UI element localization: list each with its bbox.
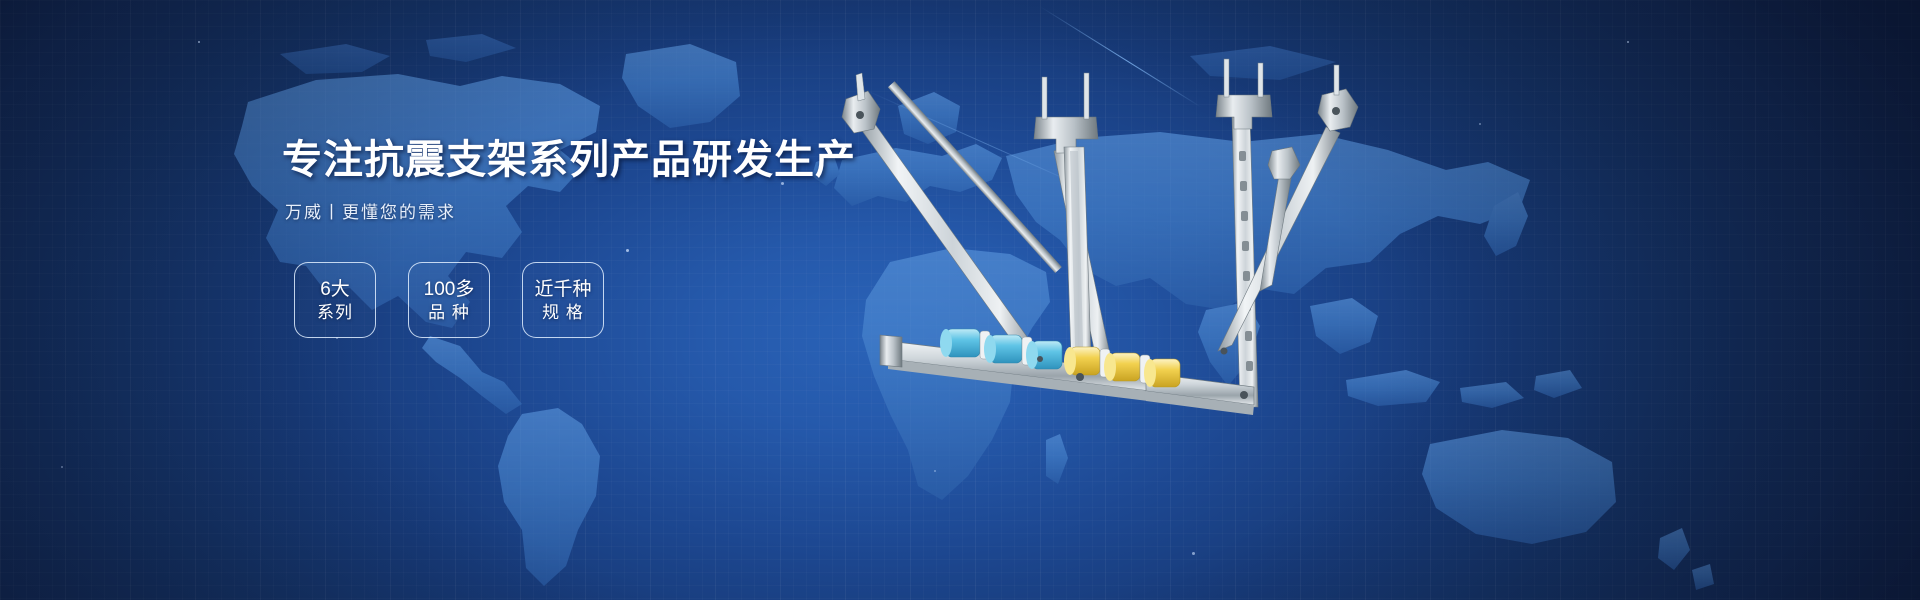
badge-varieties[interactable]: 100多 品 种: [408, 262, 490, 338]
badge-series[interactable]: 6大 系列: [294, 262, 376, 338]
badge-list: 6大 系列 100多 品 种 近千种 规 格: [294, 262, 604, 338]
page-title: 专注抗震支架系列产品研发生产: [282, 140, 842, 180]
copy-block: 专注抗震支架系列产品研发生产 万威丨更懂您的需求: [282, 140, 842, 221]
badge-specs-line1: 近千种: [534, 280, 591, 299]
product-image: [840, 55, 1360, 435]
badge-varieties-line1: 100多: [424, 280, 475, 299]
badge-specs-line2: 规 格: [542, 304, 584, 321]
page-subtitle: 万威丨更懂您的需求: [285, 204, 842, 221]
star-3: [626, 249, 629, 252]
hero-banner: 专注抗震支架系列产品研发生产 万威丨更懂您的需求 6大 系列 100多 品 种 …: [0, 0, 1920, 600]
star-9: [934, 470, 936, 472]
star-8: [1192, 552, 1195, 555]
badge-varieties-line2: 品 种: [428, 304, 470, 321]
badge-series-line2: 系列: [317, 304, 353, 321]
badge-series-line1: 6大: [320, 280, 350, 299]
star-1: [198, 41, 200, 43]
star-5: [1627, 41, 1629, 43]
star-7: [61, 466, 63, 468]
badge-specs[interactable]: 近千种 规 格: [522, 262, 604, 338]
star-6: [1479, 123, 1481, 125]
